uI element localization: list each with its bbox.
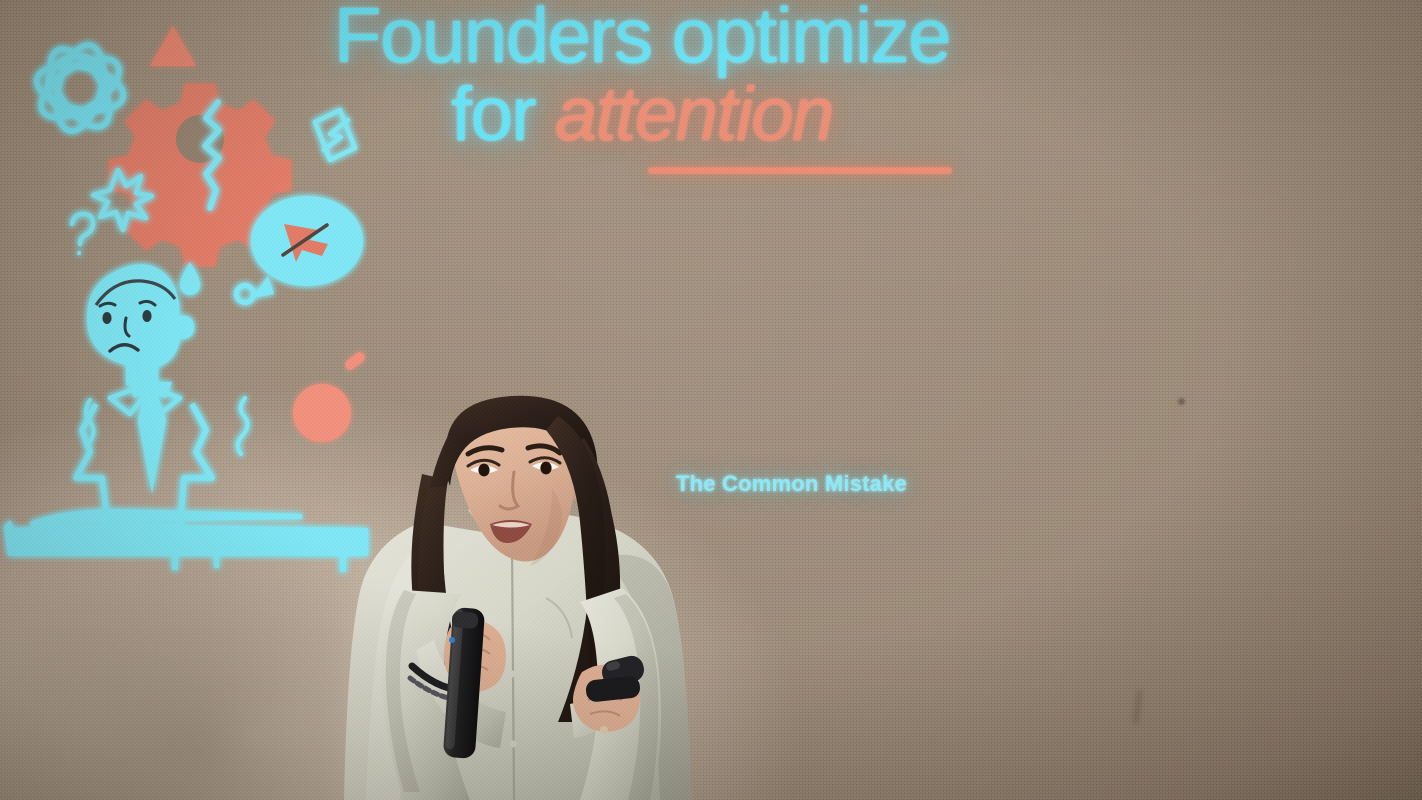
screenshot-root: Founders optimize for attention The Comm… (0, 0, 1422, 800)
vignette-overlay (0, 0, 1422, 800)
